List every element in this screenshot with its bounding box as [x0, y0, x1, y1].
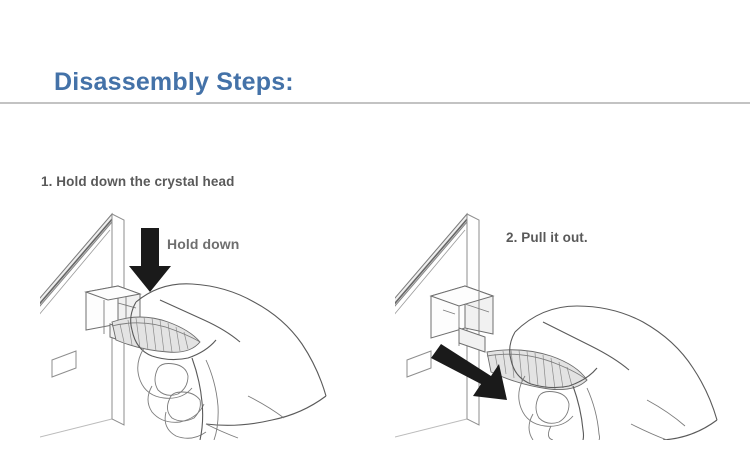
disassembly-steps-page: Disassembly Steps: 1. Hold down the crys…: [0, 0, 750, 457]
hand-holding-down-crystal-head-illustration: [40, 200, 330, 440]
hand-outline: [131, 284, 326, 440]
ethernet-cable-boot: [112, 317, 200, 352]
step-1-caption: 1. Hold down the crystal head: [41, 174, 234, 189]
hand-pulling-out-crystal-head-illustration: [395, 200, 725, 440]
title-divider: [0, 102, 750, 104]
arrow-down-icon: [129, 228, 171, 292]
page-title: Disassembly Steps:: [54, 68, 294, 97]
